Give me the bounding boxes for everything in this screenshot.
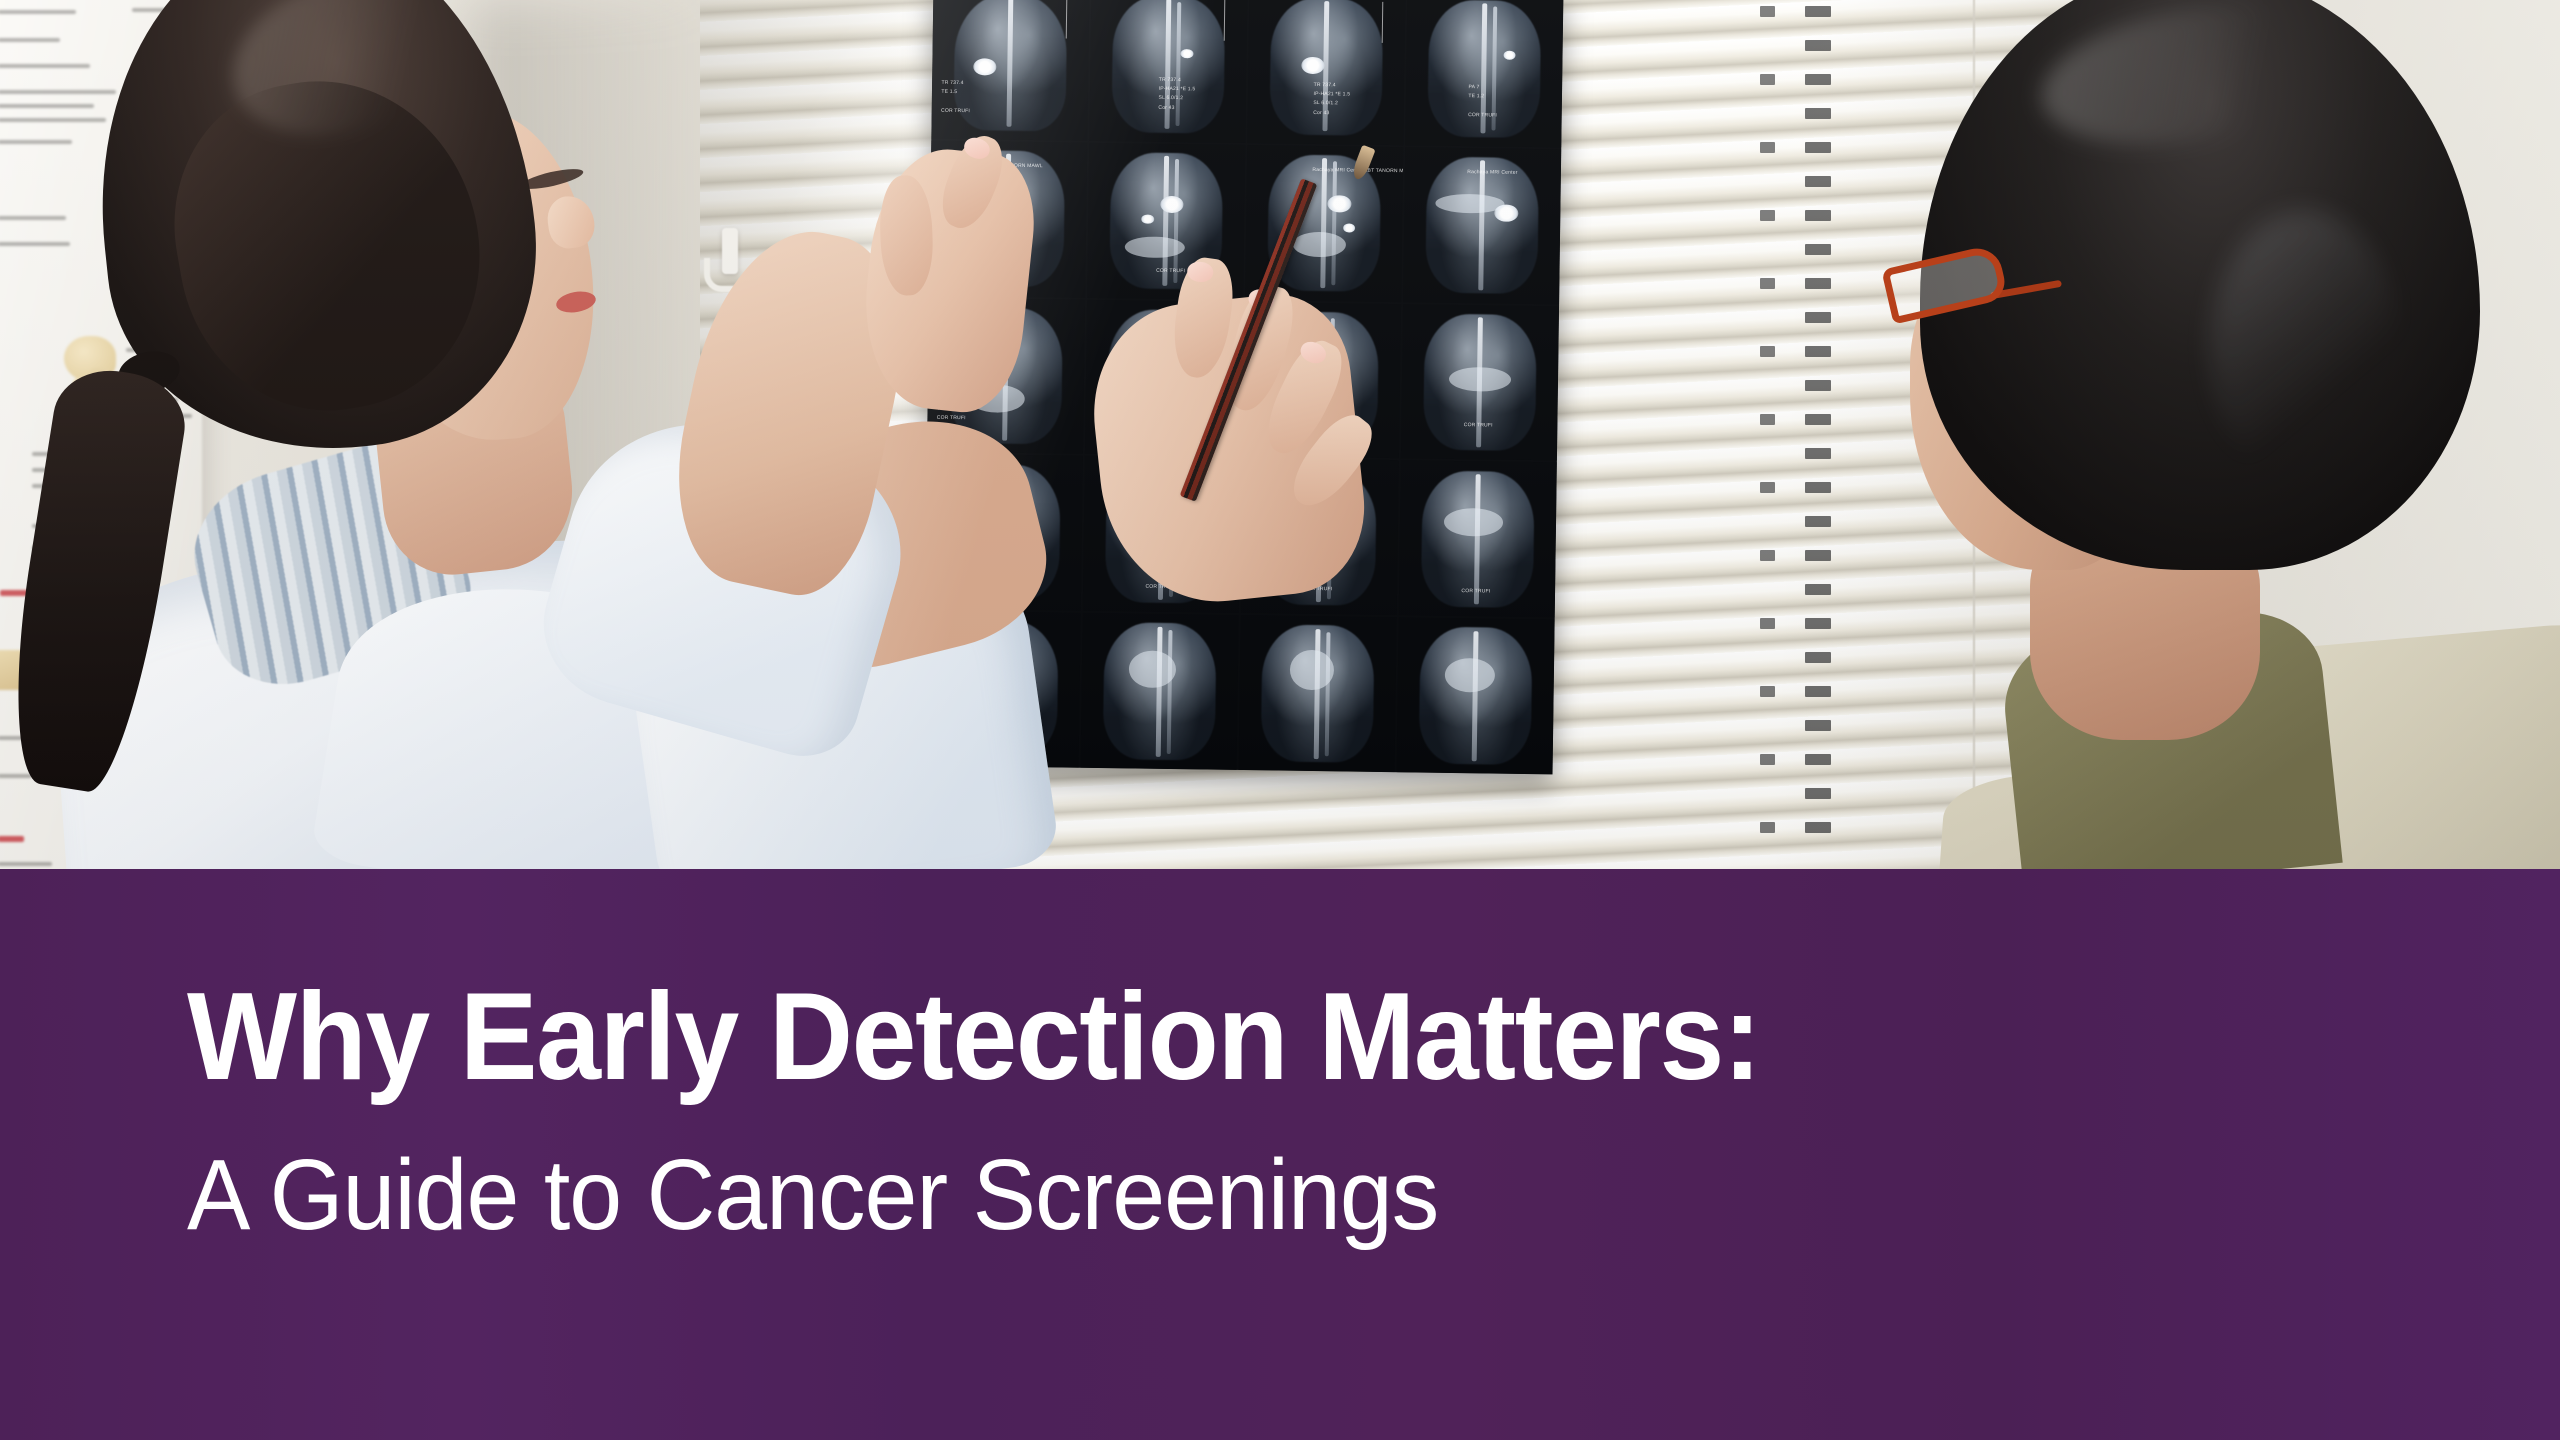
title-band: Why Early Detection Matters: A Guide to … — [0, 869, 2560, 1440]
mri-slice: COR TRUFI — [1401, 304, 1559, 461]
doctor-figure — [0, 0, 1000, 869]
mri-slice: COR TRUFI — [1399, 461, 1557, 618]
mri-slice: TR 737.4IP-HA21 *E 1.5SL 6.0/1.2Cor 43 — [1089, 0, 1247, 143]
hero-banner: TR 737.4TE 1.5COR TRUFI TR 737.4IP-HA21 … — [0, 0, 2560, 1440]
clinic-photo: TR 737.4TE 1.5COR TRUFI TR 737.4IP-HA21 … — [0, 0, 2560, 869]
mri-slice: Rachaya MRI Center — [1403, 147, 1561, 304]
mri-slice: PA 7TE 1.2COR TRUFI — [1405, 0, 1563, 147]
mri-slice — [1397, 617, 1555, 774]
patient-hair-highlight — [2210, 210, 2400, 490]
banner-subheadline: A Guide to Cancer Screenings — [187, 1145, 2277, 1245]
title-block: Why Early Detection Matters: A Guide to … — [187, 869, 2387, 1245]
banner-headline: Why Early Detection Matters: — [187, 975, 2255, 1099]
patient-figure — [1880, 0, 2560, 869]
mri-slice — [1239, 615, 1397, 772]
mri-slice: TR 737.4IP-HA21 *E 1.5SL 6.0/1.2Cor 43 — [1247, 0, 1405, 145]
mri-slice — [1081, 613, 1239, 770]
